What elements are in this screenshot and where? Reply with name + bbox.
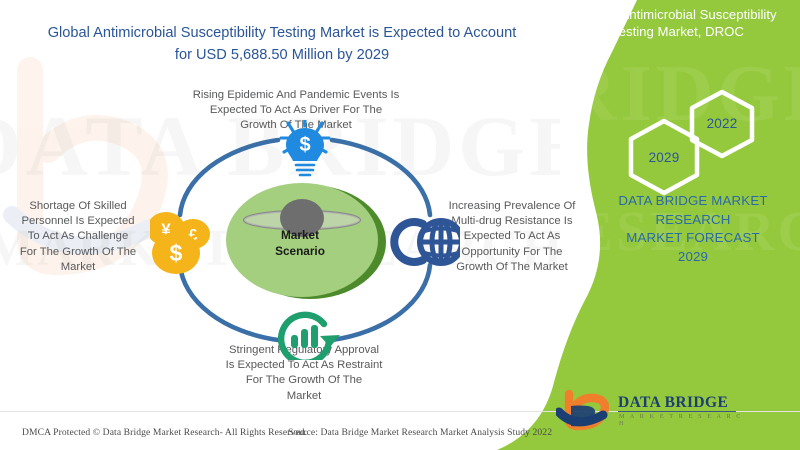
forecast-line1: DATA BRIDGE MARKET (586, 192, 800, 211)
logo-mark-icon (556, 390, 614, 434)
refresh-barchart-icon (281, 315, 340, 360)
center-label-line2: Scenario (245, 244, 355, 260)
data-bridge-logo: DATA BRIDGE M A R K E T R E S E A R C H (556, 390, 746, 434)
blurb-challenge-line1: Shortage Of Skilled (8, 199, 148, 214)
footer-dmca-text: DMCA Protected © Data Bridge Market Rese… (22, 427, 307, 438)
coins-currency-icon: ¥ £ $ (150, 212, 210, 274)
blurb-challenge-line4: For The Growth Of The (8, 245, 148, 260)
page-title: Global Antimicrobial Susceptibility Test… (24, 22, 540, 66)
forecast-line2: RESEARCH (586, 211, 800, 230)
infographic-canvas: DATA BRIDGE MARKET RESEARCH RIDGE RESEAR… (0, 0, 800, 450)
forecast-line4: 2029 (586, 248, 800, 267)
forecast-line3: MARKET FORECAST (586, 229, 800, 248)
blurb-restraint-line3: For The Growth Of The (190, 373, 418, 388)
blurb-driver-line2: Expected To Act As Driver For The (175, 103, 417, 118)
footer-source-text: Source: Data Bridge Market Research Mark… (288, 427, 552, 438)
center-label-line1: Market (245, 228, 355, 244)
logo-divider (618, 411, 736, 412)
globe-currency-icon (394, 221, 460, 263)
logo-name: DATA BRIDGE (618, 394, 728, 412)
blurb-driver-line1: Rising Epidemic And Pandemic Events Is (175, 88, 417, 103)
page-title-line2: for USD 5,688.50 Million by 2029 (24, 44, 540, 66)
svg-text:RIDGE: RIDGE (559, 50, 800, 138)
panel-title: Global Antimicrobial Susceptibility Test… (556, 6, 800, 40)
market-forecast-block: DATA BRIDGE MARKET RESEARCH MARKET FOREC… (586, 192, 800, 266)
panel-title-line1: Global Antimicrobial Susceptibility (556, 6, 800, 23)
hexagon-2029-label: 2029 (648, 150, 680, 165)
coin-dollar-symbol: $ (170, 240, 183, 266)
blurb-challenge-line2: Personnel Is Expected (8, 214, 148, 229)
lightbulb-dollar-icon: $ (281, 120, 329, 175)
blurb-restraint-line4: Market (190, 389, 418, 404)
blurb-restraint-line2: Is Expected To Act As Restraint (190, 358, 418, 373)
blurb-challenge: Shortage Of Skilled Personnel Is Expecte… (8, 199, 148, 275)
blurb-challenge-line5: Market (8, 260, 148, 275)
page-title-line1: Global Antimicrobial Susceptibility Test… (24, 22, 540, 44)
panel-title-line2: Testing Market, DROC (556, 23, 800, 40)
center-label: Market Scenario (245, 228, 355, 259)
blurb-challenge-line3: To Act As Challenge (8, 229, 148, 244)
logo-tagline: M A R K E T R E S E A R C H (619, 413, 746, 427)
bulb-dollar-symbol: $ (299, 134, 310, 156)
hexagon-2022-label: 2022 (706, 116, 738, 131)
